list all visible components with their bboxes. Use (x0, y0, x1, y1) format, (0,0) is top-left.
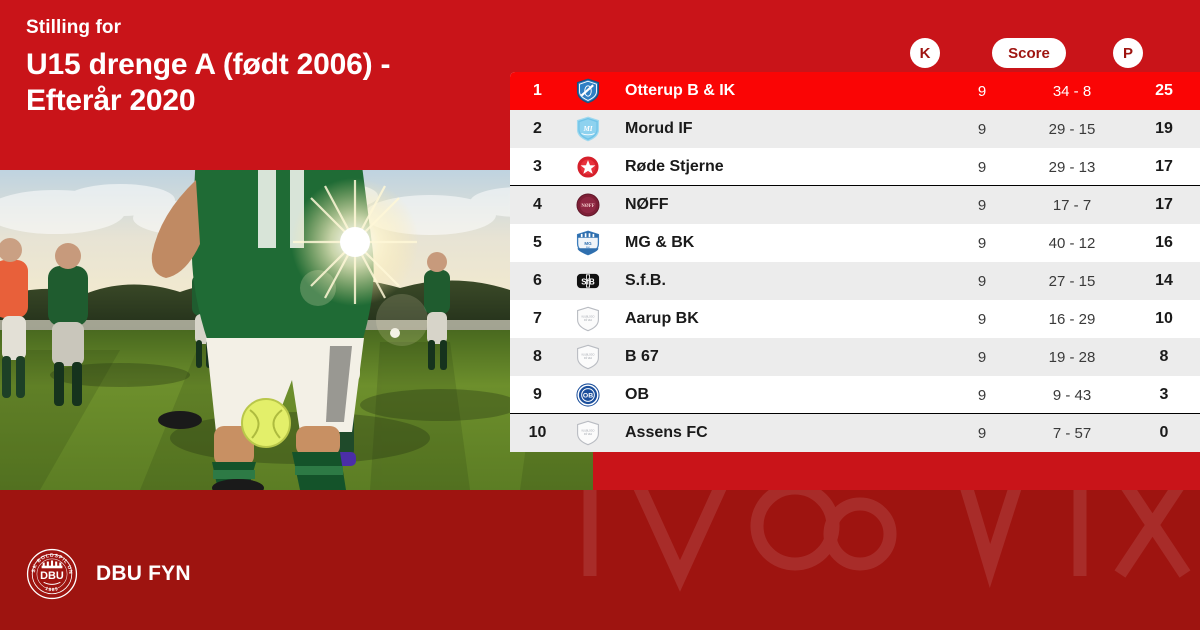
row-score: 17 - 7 (1016, 197, 1128, 214)
club-logo-icon (565, 154, 610, 180)
svg-text:1889: 1889 (45, 586, 60, 592)
row-points: 17 (1128, 196, 1200, 214)
row-score: 29 - 15 (1016, 121, 1128, 138)
club-logo-icon: MG BK (565, 230, 610, 256)
svg-text:PÅ VEJ: PÅ VEJ (583, 319, 591, 322)
row-played: 9 (948, 425, 1016, 442)
row-team: MG & BK (610, 234, 948, 252)
row-points: 25 (1128, 82, 1200, 100)
club-logo-icon: OB (565, 382, 610, 408)
row-team: Aarup BK (610, 310, 948, 328)
row-team: Røde Stjerne (610, 158, 948, 176)
footer-brand: DANSK BOLDSPIL UNION 1889 DBU DBU FYN (26, 548, 191, 600)
row-points: 17 (1128, 158, 1200, 176)
row-points: 10 (1128, 310, 1200, 328)
svg-text:KLUBLOGO: KLUBLOGO (581, 355, 594, 357)
row-score: 7 - 57 (1016, 425, 1128, 442)
row-team: B 67 (610, 348, 948, 366)
row-score: 29 - 13 (1016, 159, 1128, 176)
row-team: S.f.B. (610, 272, 948, 290)
standings-graphic: Stilling for U15 drenge A (født 2006) - … (0, 0, 1200, 630)
table-row[interactable]: 7 KLUBLOGO PÅ VEJ Aarup BK 9 16 - 29 10 (510, 300, 1200, 338)
club-logo-icon: MI (565, 116, 610, 142)
row-team: Otterup B & IK (610, 82, 948, 100)
row-rank: 5 (510, 234, 565, 252)
footer-watermark (560, 490, 1200, 606)
row-team: OB (610, 386, 948, 404)
row-played: 9 (948, 387, 1016, 404)
club-logo-icon (565, 78, 610, 104)
table-row[interactable]: 2 MI Morud IF 9 29 - 15 19 (510, 110, 1200, 148)
table-row[interactable]: 5 MG BK MG & BK 9 40 - 12 16 (510, 224, 1200, 262)
row-rank: 3 (510, 158, 565, 176)
row-played: 9 (948, 83, 1016, 100)
column-header-k: K (910, 38, 940, 68)
row-played: 9 (948, 349, 1016, 366)
row-played: 9 (948, 311, 1016, 328)
row-points: 0 (1128, 424, 1200, 442)
org-name: DBU FYN (96, 562, 191, 586)
svg-text:DBU: DBU (40, 570, 64, 582)
svg-text:SfB: SfB (581, 277, 595, 286)
row-points: 3 (1128, 386, 1200, 404)
row-team: Morud IF (610, 120, 948, 138)
table-row[interactable]: 1 Otterup B & IK 9 34 - 8 25 (510, 72, 1200, 110)
page-title: U15 drenge A (født 2006) - Efterår 2020 (26, 47, 574, 120)
svg-text:MG: MG (584, 241, 592, 246)
row-played: 9 (948, 235, 1016, 252)
svg-text:NØFF: NØFF (581, 204, 594, 209)
table-row[interactable]: 6 SfB S.f.B. 9 27 - 15 14 (510, 262, 1200, 300)
hero-photo (0, 170, 593, 490)
column-header-p: P (1113, 38, 1143, 68)
club-logo-icon: KLUBLOGO PÅ VEJ (565, 420, 610, 446)
table-row[interactable]: 4 NØFF NØFF 9 17 - 7 17 (510, 186, 1200, 224)
row-rank: 2 (510, 120, 565, 138)
row-rank: 7 (510, 310, 565, 328)
row-played: 9 (948, 273, 1016, 290)
row-score: 27 - 15 (1016, 273, 1128, 290)
standings-table: 1 Otterup B & IK 9 34 - 8 252 MI Morud I… (510, 72, 1200, 452)
svg-text:KLUBLOGO: KLUBLOGO (581, 317, 594, 319)
club-logo-icon: KLUBLOGO PÅ VEJ (565, 344, 610, 370)
row-points: 8 (1128, 348, 1200, 366)
row-score: 16 - 29 (1016, 311, 1128, 328)
row-score: 9 - 43 (1016, 387, 1128, 404)
svg-text:MI: MI (582, 125, 592, 133)
row-rank: 9 (510, 386, 565, 404)
club-logo-icon: NØFF (565, 192, 610, 218)
svg-text:PÅ VEJ: PÅ VEJ (583, 433, 591, 436)
table-row[interactable]: 10 KLUBLOGO PÅ VEJ Assens FC 9 7 - 57 0 (510, 414, 1200, 452)
row-score: 40 - 12 (1016, 235, 1128, 252)
row-rank: 8 (510, 348, 565, 366)
row-played: 9 (948, 197, 1016, 214)
table-row[interactable]: 3 Røde Stjerne 9 29 - 13 17 (510, 148, 1200, 186)
row-team: NØFF (610, 196, 948, 214)
table-row[interactable]: 8 KLUBLOGO PÅ VEJ B 67 9 19 - 28 8 (510, 338, 1200, 376)
row-team: Assens FC (610, 424, 948, 442)
club-logo-icon: KLUBLOGO PÅ VEJ (565, 306, 610, 332)
row-rank: 4 (510, 196, 565, 214)
club-logo-icon: SfB (565, 268, 610, 294)
footer-bar: DANSK BOLDSPIL UNION 1889 DBU DBU FYN (0, 490, 1200, 630)
row-score: 19 - 28 (1016, 349, 1128, 366)
svg-text:KLUBLOGO: KLUBLOGO (581, 431, 594, 433)
row-played: 9 (948, 121, 1016, 138)
row-points: 16 (1128, 234, 1200, 252)
row-played: 9 (948, 159, 1016, 176)
svg-text:PÅ VEJ: PÅ VEJ (583, 357, 591, 360)
header-kicker: Stilling for (26, 18, 574, 39)
table-row[interactable]: 9 OB OB 9 9 - 43 3 (510, 376, 1200, 414)
row-rank: 6 (510, 272, 565, 290)
row-points: 14 (1128, 272, 1200, 290)
table-column-headers: K Score P (510, 38, 1200, 72)
column-header-score: Score (992, 38, 1066, 68)
row-points: 19 (1128, 120, 1200, 138)
row-score: 34 - 8 (1016, 83, 1128, 100)
dbu-logo-icon: DANSK BOLDSPIL UNION 1889 DBU (26, 548, 78, 600)
row-rank: 10 (510, 424, 565, 442)
svg-text:OB: OB (582, 393, 592, 400)
row-rank: 1 (510, 82, 565, 100)
